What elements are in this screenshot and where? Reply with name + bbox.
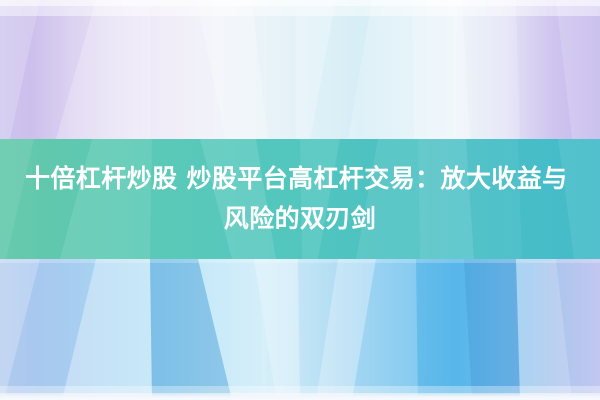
banner-title-line-2: 风险的双刃剑 (224, 199, 376, 239)
banner-title-block: 十倍杠杆炒股 炒股平台高杠杆交易：放大收益与 风险的双刃剑 (0, 139, 600, 259)
banner-title-line-1: 十倍杠杆炒股 炒股平台高杠杆交易：放大收益与 (25, 159, 568, 199)
background-zone-bottom (0, 259, 600, 400)
background-zone-top (0, 0, 600, 139)
bottom-light-strip (0, 393, 600, 400)
banner-image: 十倍杠杆炒股 炒股平台高杠杆交易：放大收益与 风险的双刃剑 (0, 0, 600, 400)
